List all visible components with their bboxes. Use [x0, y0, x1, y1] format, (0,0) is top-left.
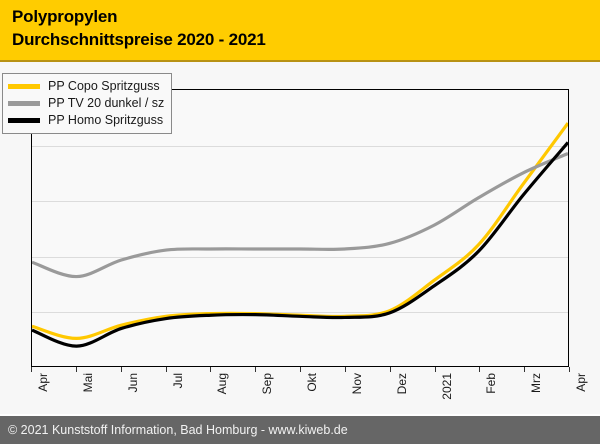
x-axis-tick	[121, 367, 122, 372]
legend-swatch-tv20	[8, 101, 40, 106]
footer-bar: © 2021 Kunststoff Information, Bad Hombu…	[0, 414, 600, 444]
legend-label-homo: PP Homo Spritzguss	[48, 112, 163, 129]
x-axis-tick	[31, 367, 32, 372]
legend-item: PP Copo Spritzguss	[8, 78, 164, 95]
x-axis-tick	[210, 367, 211, 372]
x-axis-tick	[255, 367, 256, 372]
series-line	[32, 142, 568, 346]
x-axis-label: Okt	[305, 373, 319, 392]
x-axis-tick	[479, 367, 480, 372]
x-axis-tick	[435, 367, 436, 372]
header-banner: Polypropylen Durchschnittspreise 2020 - …	[0, 0, 600, 62]
copyright-text: © 2021 Kunststoff Information, Bad Hombu…	[8, 423, 348, 437]
x-axis-tick	[76, 367, 77, 372]
x-axis-label: Jun	[126, 373, 140, 392]
x-axis-label: Apr	[574, 373, 588, 392]
x-axis-tick	[390, 367, 391, 372]
x-axis-label: Aug	[215, 373, 229, 394]
chart-area: PP Copo Spritzguss PP TV 20 dunkel / sz …	[0, 64, 600, 414]
legend-swatch-homo	[8, 118, 40, 123]
x-axis-labels: AprMaiJunJulAugSepOktNovDez2021FebMrzApr	[0, 373, 600, 415]
x-axis-label: Sep	[260, 373, 274, 394]
x-axis-tick	[300, 367, 301, 372]
legend-label-tv20: PP TV 20 dunkel / sz	[48, 95, 164, 112]
x-axis-label: Mai	[81, 373, 95, 392]
page-title-line-1: Polypropylen	[12, 7, 117, 27]
x-axis-label: Jul	[171, 373, 185, 388]
x-axis-tick	[569, 367, 570, 372]
page-title-line-2: Durchschnittspreise 2020 - 2021	[12, 30, 266, 50]
x-axis-label: Dez	[395, 373, 409, 394]
x-axis-label: Nov	[350, 373, 364, 394]
x-axis-label: Feb	[484, 373, 498, 394]
chart-legend: PP Copo Spritzguss PP TV 20 dunkel / sz …	[2, 73, 172, 134]
series-line	[32, 153, 568, 276]
legend-label-copo: PP Copo Spritzguss	[48, 78, 160, 95]
x-axis-tick	[166, 367, 167, 372]
x-axis-label: 2021	[440, 373, 454, 400]
x-axis-label: Mrz	[529, 373, 543, 393]
x-axis-label: Apr	[36, 373, 50, 392]
series-line	[32, 123, 568, 338]
chart-page: Polypropylen Durchschnittspreise 2020 - …	[0, 0, 600, 444]
x-axis-tick	[524, 367, 525, 372]
x-axis-tick	[345, 367, 346, 372]
legend-item: PP TV 20 dunkel / sz	[8, 95, 164, 112]
legend-swatch-copo	[8, 84, 40, 89]
legend-item: PP Homo Spritzguss	[8, 112, 164, 129]
